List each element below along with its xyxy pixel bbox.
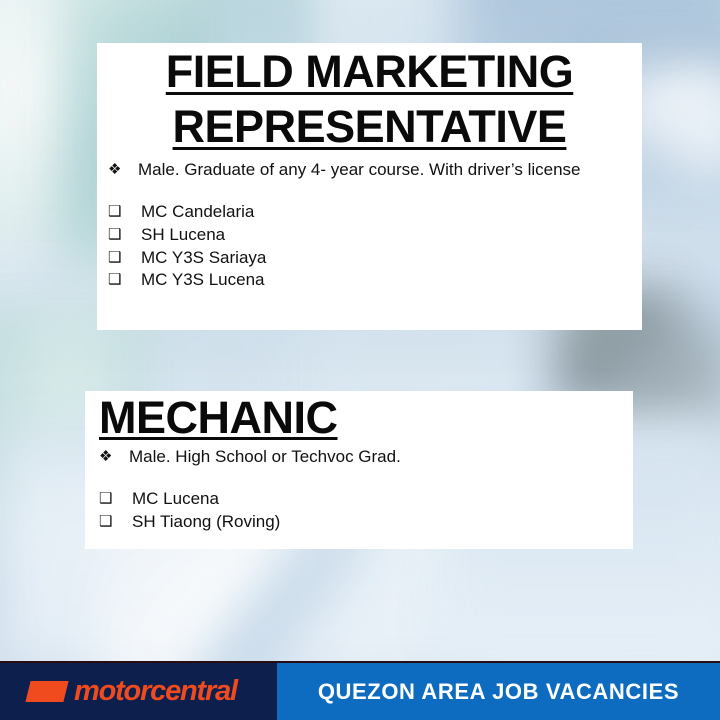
- location-label: SH Lucena: [141, 224, 225, 247]
- tagline-block: QUEZON AREA JOB VACANCIES: [277, 661, 720, 720]
- square-bullet-icon: ❑: [108, 201, 141, 223]
- list-item: ❑ SH Lucena: [108, 224, 642, 247]
- location-label: MC Y3S Lucena: [141, 269, 264, 292]
- square-bullet-icon: ❑: [108, 247, 141, 269]
- diamond-bullet-icon: ❖: [108, 159, 138, 181]
- list-item: ❑ MC Candelaria: [108, 201, 642, 224]
- list-item: ❑ SH Tiaong (Roving): [99, 511, 633, 534]
- location-label: MC Lucena: [132, 488, 219, 511]
- job-title: FIELD MARKETING REPRESENTATIVE: [97, 43, 642, 149]
- footer-bar: motorcentral QUEZON AREA JOB VACANCIES: [0, 661, 720, 720]
- location-list: ❑ MC Candelaria ❑ SH Lucena ❑ MC Y3S Sar…: [108, 201, 642, 291]
- list-item: ❑ MC Y3S Sariaya: [108, 247, 642, 270]
- location-label: MC Y3S Sariaya: [141, 247, 266, 270]
- job-title-line: FIELD MARKETING: [113, 49, 626, 94]
- diamond-bullet-icon: ❖: [99, 446, 129, 468]
- job-title: MECHANIC: [85, 391, 633, 440]
- square-bullet-icon: ❑: [99, 511, 132, 533]
- square-bullet-icon: ❑: [108, 224, 141, 246]
- requirement-row: ❖ Male. High School or Techvoc Grad.: [99, 446, 633, 468]
- requirement-text: Male. Graduate of any 4- year course. Wi…: [138, 159, 642, 181]
- job-details: ❖ Male. Graduate of any 4- year course. …: [97, 149, 642, 292]
- job-listing-card: MECHANIC ❖ Male. High School or Techvoc …: [85, 391, 633, 549]
- list-item: ❑ MC Y3S Lucena: [108, 269, 642, 292]
- background-blur-shape: [680, 80, 720, 170]
- location-label: MC Candelaria: [141, 201, 254, 224]
- square-bullet-icon: ❑: [108, 269, 141, 291]
- requirement-row: ❖ Male. Graduate of any 4- year course. …: [108, 159, 642, 181]
- job-details: ❖ Male. High School or Techvoc Grad. ❑ M…: [85, 440, 633, 534]
- list-item: ❑ MC Lucena: [99, 488, 633, 511]
- motorcentral-logo-icon: [25, 681, 68, 702]
- requirement-text: Male. High School or Techvoc Grad.: [129, 446, 633, 468]
- job-listing-card: FIELD MARKETING REPRESENTATIVE ❖ Male. G…: [97, 43, 642, 330]
- location-list: ❑ MC Lucena ❑ SH Tiaong (Roving): [99, 488, 633, 533]
- brand-name: motorcentral: [74, 677, 237, 706]
- job-vacancy-poster: FIELD MARKETING REPRESENTATIVE ❖ Male. G…: [0, 0, 720, 720]
- brand-block: motorcentral: [0, 661, 277, 720]
- job-title-line: REPRESENTATIVE: [113, 104, 626, 149]
- location-label: SH Tiaong (Roving): [132, 511, 280, 534]
- job-title-line: MECHANIC: [99, 395, 338, 440]
- square-bullet-icon: ❑: [99, 488, 132, 510]
- tagline-label: QUEZON AREA JOB VACANCIES: [318, 679, 679, 705]
